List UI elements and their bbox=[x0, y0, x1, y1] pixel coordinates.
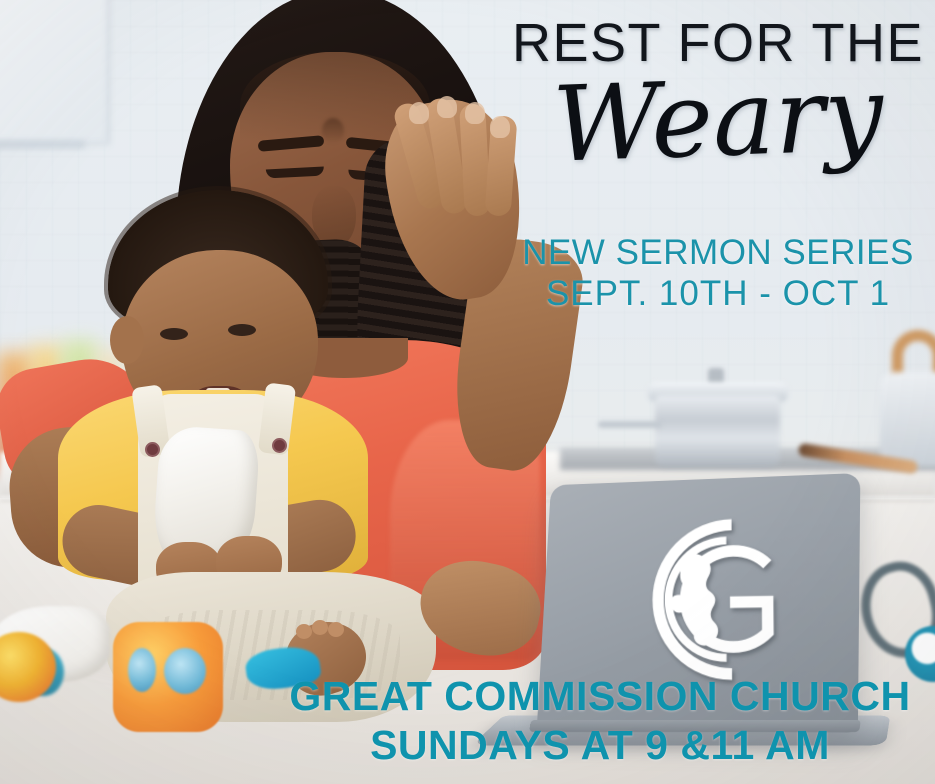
baby-overall-button bbox=[272, 438, 287, 453]
cube-toy-window bbox=[128, 648, 156, 692]
baby-toe bbox=[296, 624, 312, 639]
cube-toy-window bbox=[164, 648, 206, 694]
baby-toe bbox=[328, 622, 344, 637]
sermon-series-poster: REST FOR THE Weary NEW SERMON SERIES SEP… bbox=[0, 0, 935, 784]
pot-handle bbox=[598, 421, 662, 428]
mother-fingernail bbox=[465, 102, 485, 124]
mother-fingernail bbox=[437, 96, 457, 118]
church-info-footer: GREAT COMMISSION CHURCH SUNDAYS AT 9 &11… bbox=[270, 672, 930, 770]
great-commission-church-globe-g-logo bbox=[617, 509, 800, 689]
baby-eye-right bbox=[228, 324, 256, 336]
mother-fingernail bbox=[409, 102, 429, 124]
series-line-1: NEW SERMON SERIES bbox=[522, 233, 914, 272]
stainless-pot bbox=[655, 395, 780, 467]
mother-fingernail bbox=[490, 116, 510, 138]
series-info: NEW SERMON SERIES SEPT. 10TH - OCT 1 bbox=[500, 232, 935, 314]
kettle bbox=[880, 372, 935, 467]
baby-toe bbox=[312, 620, 328, 635]
service-times: SUNDAYS AT 9 &11 AM bbox=[270, 720, 930, 770]
mother-brow-furrow bbox=[322, 118, 344, 144]
script-word-weary: Weary bbox=[510, 57, 926, 181]
church-name: GREAT COMMISSION CHURCH bbox=[270, 672, 930, 720]
baby-overall-button bbox=[145, 442, 160, 457]
series-line-2: SEPT. 10TH - OCT 1 bbox=[546, 274, 890, 313]
baby-ear bbox=[110, 316, 144, 364]
kitchen-shelf bbox=[0, 140, 85, 149]
baby-eye-left bbox=[160, 328, 188, 340]
